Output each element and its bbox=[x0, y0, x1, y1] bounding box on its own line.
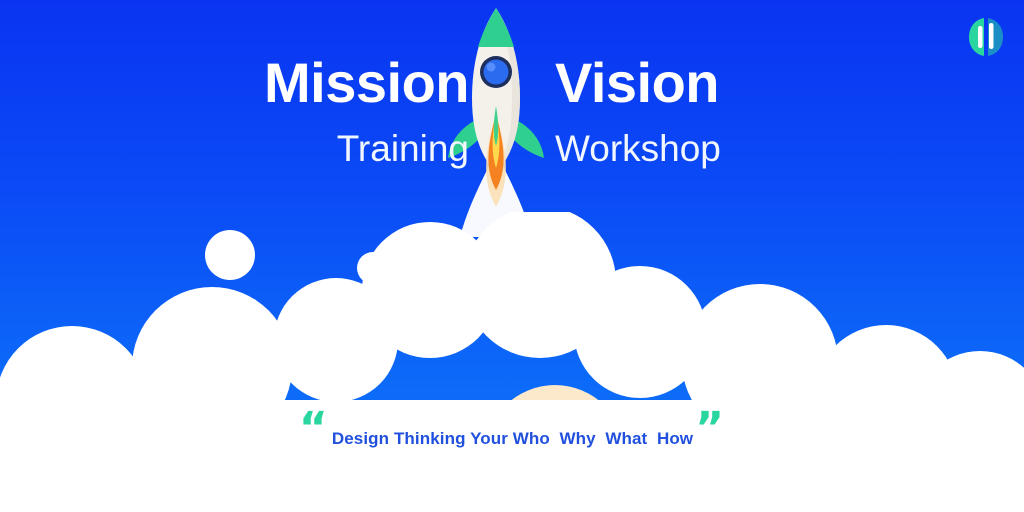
quote-close-icon: ” bbox=[695, 412, 725, 446]
tagline-block: “ Design Thinking Your Who Why What How … bbox=[0, 412, 1024, 449]
rocket-illustration bbox=[438, 2, 554, 237]
cloud-bank-illustration bbox=[0, 212, 1024, 512]
headline-word-vision: Vision bbox=[545, 55, 765, 111]
brand-logo-mark bbox=[966, 14, 1006, 60]
subline-word-workshop: Workshop bbox=[543, 130, 765, 167]
presentation-banner: Mission Vision Training Workshop “ Desig… bbox=[0, 0, 1024, 512]
tagline-text: Design Thinking Your Who Why What How bbox=[332, 429, 693, 449]
quote-open-icon: “ bbox=[299, 412, 329, 446]
